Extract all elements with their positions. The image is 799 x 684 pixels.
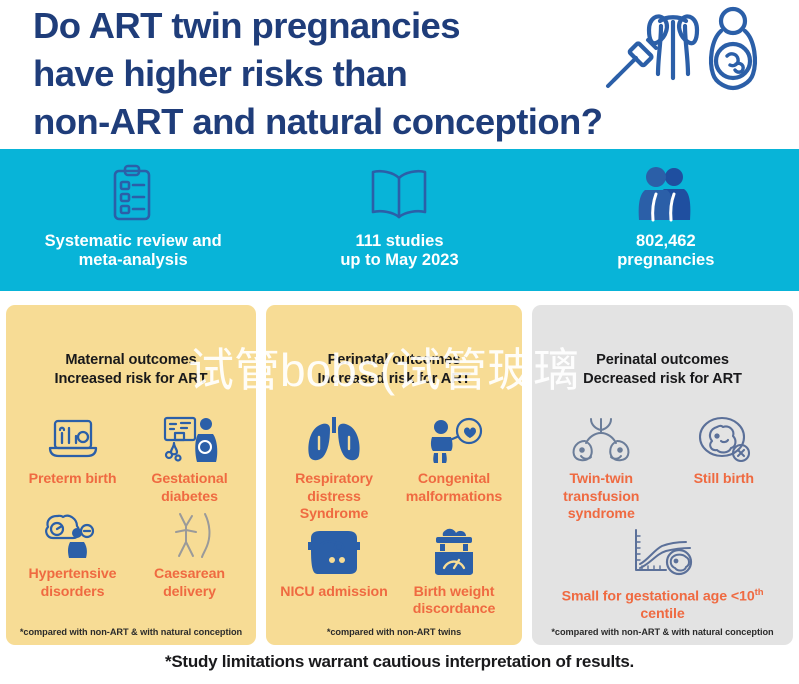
lungs-icon bbox=[306, 411, 362, 463]
panel-perinatal-increased: Perinatal outcomes Increased risk for AR… bbox=[266, 305, 522, 645]
header-icon-group bbox=[592, 4, 772, 96]
stat-item-systematic-review: Systematic review and meta-analysis bbox=[0, 149, 266, 291]
growth-chart-fetus-icon bbox=[624, 524, 702, 576]
panel-footnote: *compared with non-ART twins bbox=[266, 627, 522, 637]
stat-line-2: pregnancies bbox=[617, 251, 714, 270]
outcome-item: Twin-twin transfusion syndrome bbox=[540, 411, 663, 524]
stat-label: 111 studies up to May 2023 bbox=[340, 232, 458, 270]
outcome-label: NICU admission bbox=[280, 584, 387, 602]
panel-title-line-2: Decreased risk for ART bbox=[540, 370, 785, 389]
outcome-item: Caesarean delivery bbox=[131, 506, 248, 601]
outcome-label: Birth weight discordance bbox=[396, 584, 512, 619]
outcome-panels: Maternal outcomes Increased risk for ART bbox=[0, 305, 799, 645]
panel-title-line-2: Increased risk for ART bbox=[274, 370, 514, 389]
stat-line-2: up to May 2023 bbox=[340, 251, 458, 270]
preterm-birth-icon bbox=[47, 411, 99, 463]
outcome-label: Preterm birth bbox=[29, 471, 117, 489]
two-people-icon bbox=[638, 162, 694, 224]
panel-items: Respiratory distress Syndrome bbox=[274, 411, 514, 619]
stats-band: Systematic review and meta-analysis 111 … bbox=[0, 149, 799, 291]
outcome-label-pre: Small for gestational age <10 bbox=[562, 588, 755, 604]
outcome-item: Small for gestational age <10th centile bbox=[540, 524, 785, 624]
outcome-item: NICU admission bbox=[274, 524, 394, 619]
twin-twin-transfusion-icon bbox=[567, 411, 635, 463]
title-line-1: Do ART twin pregnancies bbox=[33, 2, 603, 50]
infographic-root: Do ART twin pregnancies have higher risk… bbox=[0, 0, 799, 684]
stat-label: Systematic review and meta-analysis bbox=[45, 232, 222, 270]
title-line-2: have higher risks than bbox=[33, 50, 603, 98]
birth-weight-scale-icon bbox=[428, 524, 480, 576]
stat-line-1: 802,462 bbox=[617, 232, 714, 251]
page-title: Do ART twin pregnancies have higher risk… bbox=[33, 2, 603, 146]
panel-title-line-2: Increased risk for ART bbox=[14, 370, 248, 389]
panel-perinatal-decreased: Perinatal outcomes Decreased risk for AR… bbox=[532, 305, 793, 645]
panel-title-line-1: Perinatal outcomes bbox=[540, 351, 785, 370]
title-line-3: non-ART and natural conception? bbox=[33, 98, 603, 146]
stat-line-1: 111 studies bbox=[340, 232, 458, 251]
outcome-item: Still birth bbox=[663, 411, 786, 524]
outcome-label: Hypertensive disorders bbox=[16, 566, 129, 601]
header: Do ART twin pregnancies have higher risk… bbox=[0, 0, 799, 149]
panel-title-line-1: Maternal outcomes bbox=[14, 351, 248, 370]
panel-title-line-1: Perinatal outcomes bbox=[274, 351, 514, 370]
stat-line-1: Systematic review and bbox=[45, 232, 222, 251]
outcome-label: Still birth bbox=[694, 471, 754, 489]
outcome-label: Twin-twin transfusion syndrome bbox=[542, 471, 661, 524]
outcome-label: Respiratory distress Syndrome bbox=[276, 471, 392, 524]
caesarean-delivery-icon bbox=[164, 506, 216, 558]
open-book-icon bbox=[368, 162, 430, 224]
outcome-item: Hypertensive disorders bbox=[14, 506, 131, 601]
outcome-label-superscript: th bbox=[755, 587, 764, 598]
nicu-incubator-icon bbox=[306, 524, 362, 576]
footer-note: *Study limitations warrant cautious inte… bbox=[0, 652, 799, 672]
hypertensive-disorders-icon bbox=[43, 506, 103, 558]
stat-item-studies: 111 studies up to May 2023 bbox=[266, 149, 532, 291]
panel-maternal-increased: Maternal outcomes Increased risk for ART bbox=[6, 305, 256, 645]
panel-title: Perinatal outcomes Increased risk for AR… bbox=[274, 351, 514, 389]
outcome-item: Respiratory distress Syndrome bbox=[274, 411, 394, 524]
outcome-label: Caesarean delivery bbox=[133, 566, 246, 601]
still-birth-icon bbox=[697, 411, 751, 463]
outcome-item: Birth weight discordance bbox=[394, 524, 514, 619]
outcome-item: Gestational diabetes bbox=[131, 411, 248, 506]
outcome-label: Small for gestational age <10th centile bbox=[542, 584, 783, 624]
panel-items: Twin-twin transfusion syndrome St bbox=[540, 411, 785, 623]
clipboard-checklist-icon bbox=[109, 162, 157, 224]
outcome-label-post: centile bbox=[640, 606, 684, 622]
outcome-label: Congenital malformations bbox=[396, 471, 512, 506]
gestational-diabetes-icon bbox=[160, 411, 220, 463]
panel-items: Preterm birth bbox=[14, 411, 248, 601]
panel-title: Maternal outcomes Increased risk for ART bbox=[14, 351, 248, 389]
outcome-item: Congenital malformations bbox=[394, 411, 514, 524]
stat-label: 802,462 pregnancies bbox=[617, 232, 714, 270]
panel-footnote: *compared with non-ART & with natural co… bbox=[6, 627, 256, 637]
stat-item-pregnancies: 802,462 pregnancies bbox=[533, 149, 799, 291]
congenital-malformations-icon bbox=[425, 411, 483, 463]
stat-line-2: meta-analysis bbox=[45, 251, 222, 270]
outcome-label: Gestational diabetes bbox=[133, 471, 246, 506]
panel-footnote: *compared with non-ART & with natural co… bbox=[532, 627, 793, 637]
panel-title: Perinatal outcomes Decreased risk for AR… bbox=[540, 351, 785, 389]
outcome-item: Preterm birth bbox=[14, 411, 131, 506]
uterus-syringe-icon bbox=[592, 4, 772, 96]
